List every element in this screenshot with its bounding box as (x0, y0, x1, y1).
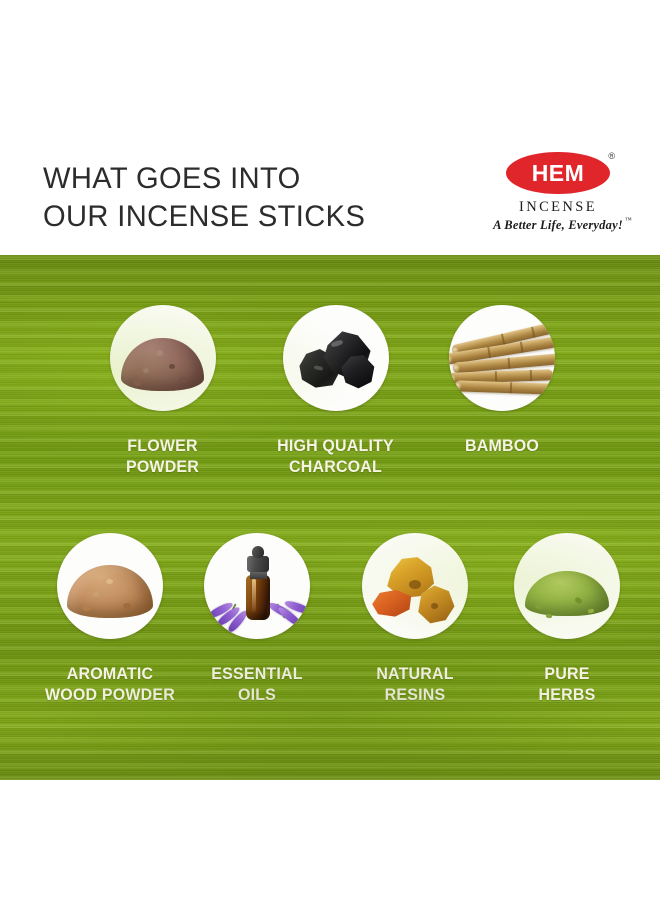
bamboo-stick (455, 381, 553, 395)
flower-powder-art (110, 305, 216, 411)
ingredient-label: AROMATIC WOOD POWDER (35, 663, 185, 705)
charcoal-icon (283, 305, 389, 411)
page-title: WHAT GOES INTO OUR INCENSE STICKS (43, 160, 365, 236)
ingredient-label: BAMBOO (441, 435, 563, 456)
oil-bottle-body (246, 575, 269, 620)
essential-oil-bottle-icon (204, 533, 310, 639)
resin-icon (362, 533, 468, 639)
ingredient-natural-resins: NATURAL RESINS (345, 533, 485, 705)
essential-oil-art (204, 533, 310, 639)
logo-badge: HEM ® (499, 152, 617, 196)
bamboo-art (449, 305, 555, 411)
ingredient-label: HIGH QUALITY CHARCOAL (267, 435, 403, 477)
logo-tagline-text: A Better Life, Everyday! (493, 218, 623, 232)
ingredient-label: NATURAL RESINS (349, 663, 481, 705)
ingredient-aromatic-wood-powder: AROMATIC WOOD POWDER (30, 533, 190, 705)
wood-powder-icon (57, 533, 163, 639)
ingredient-label: FLOWER POWDER (99, 435, 226, 477)
ingredient-row-1: FLOWER POWDER HIGH QUALITY CHARCOAL (0, 305, 660, 505)
ingredient-bamboo: BAMBOO (437, 305, 567, 456)
logo-tagline: A Better Life, Everyday! ™ (493, 218, 623, 233)
ingredients-panel: FLOWER POWDER HIGH QUALITY CHARCOAL (0, 255, 660, 780)
charcoal-art (283, 305, 389, 411)
brand-logo: HEM ® INCENSE A Better Life, Everyday! ™ (478, 152, 638, 242)
herbs-icon (514, 533, 620, 639)
powder-heap-shape (67, 565, 154, 618)
trademark-mark-icon: ™ (625, 216, 632, 224)
registered-mark-icon: ® (608, 151, 615, 161)
ingredient-pure-herbs: PURE HERBS (502, 533, 632, 705)
herbs-art (514, 533, 620, 639)
header: WHAT GOES INTO OUR INCENSE STICKS HEM ® … (0, 0, 660, 255)
ingredient-high-quality-charcoal: HIGH QUALITY CHARCOAL (263, 305, 408, 477)
ingredient-essential-oils: ESSENTIAL OILS (192, 533, 322, 705)
logo-brand-text: HEM (506, 152, 610, 194)
logo-subtitle: INCENSE (478, 199, 638, 216)
ingredient-label: PURE HERBS (506, 663, 628, 705)
oil-bottle-dropper-bulb (252, 546, 265, 559)
footer-whitespace (0, 780, 660, 900)
ingredient-row-2: AROMATIC WOOD POWDER (0, 533, 660, 743)
ingredient-label: ESSENTIAL OILS (196, 663, 318, 705)
resin-art (362, 533, 468, 639)
wood-powder-art (57, 533, 163, 639)
oil-bottle-dropper-cap (247, 556, 269, 572)
bamboo-icon (449, 305, 555, 411)
ingredient-flower-powder: FLOWER POWDER (95, 305, 230, 477)
flower-powder-icon (110, 305, 216, 411)
